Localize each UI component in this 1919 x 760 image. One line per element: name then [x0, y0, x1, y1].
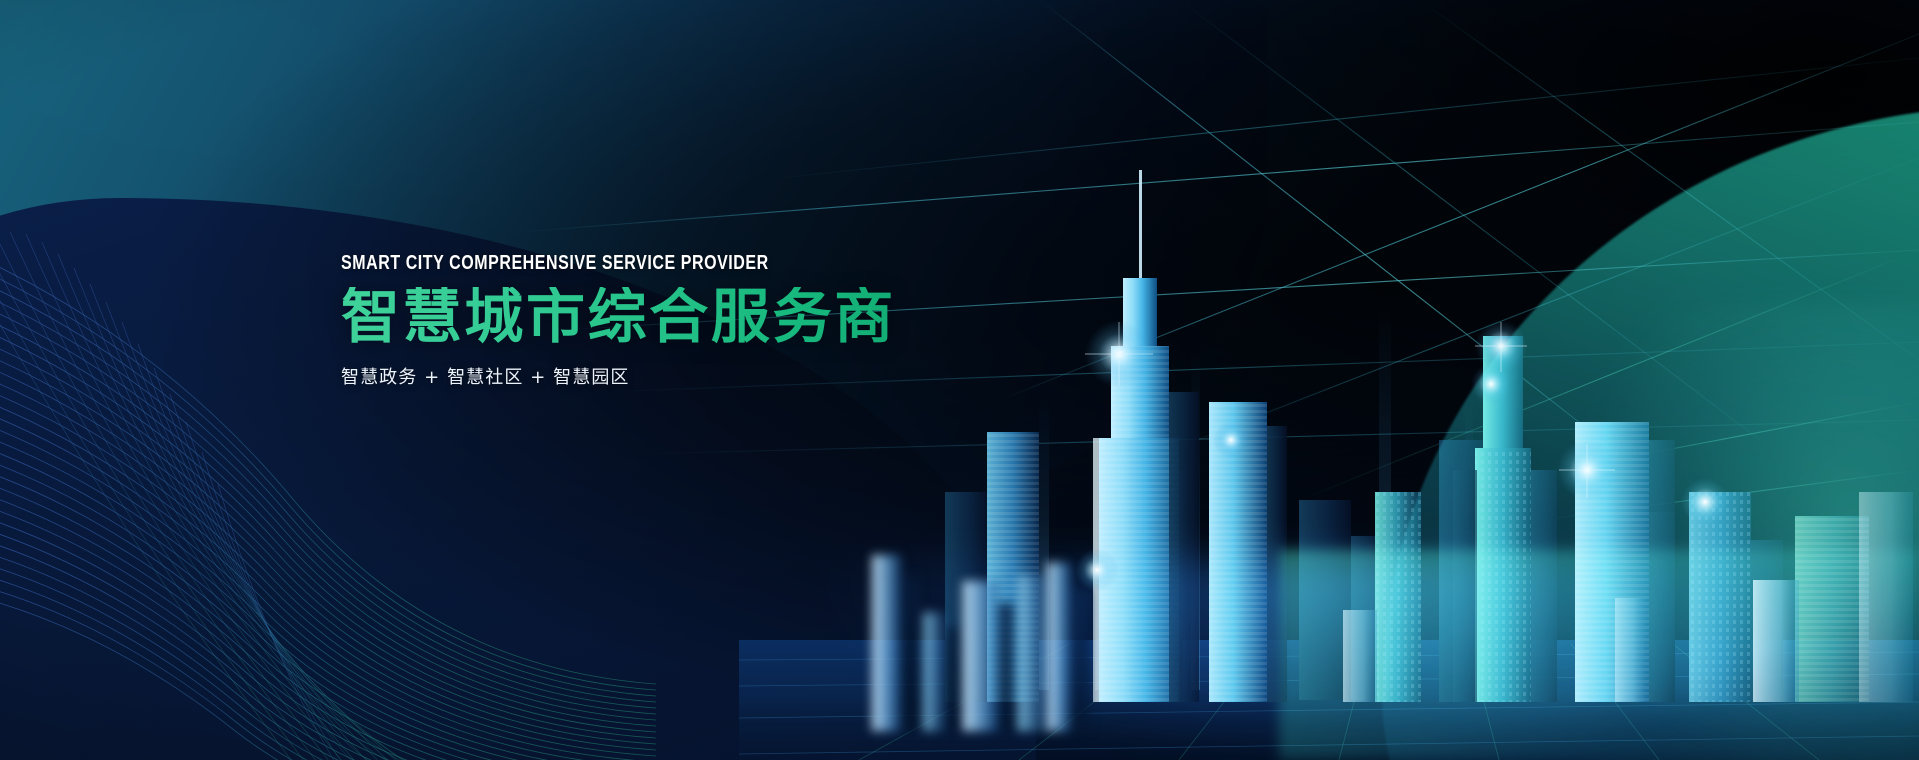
hero-subline: 智慧政务 + 智慧社区 + 智慧园区 [341, 367, 896, 389]
right-green-swoosh-glow [1497, 304, 1919, 760]
hero-headline: 智慧城市综合服务商 [341, 287, 896, 347]
hero-banner: SMART CITY COMPREHENSIVE SERVICE PROVIDE… [0, 0, 1919, 760]
hero-eyebrow: SMART CITY COMPREHENSIVE SERVICE PROVIDE… [341, 253, 785, 273]
hero-copy-block: SMART CITY COMPREHENSIVE SERVICE PROVIDE… [341, 253, 896, 389]
